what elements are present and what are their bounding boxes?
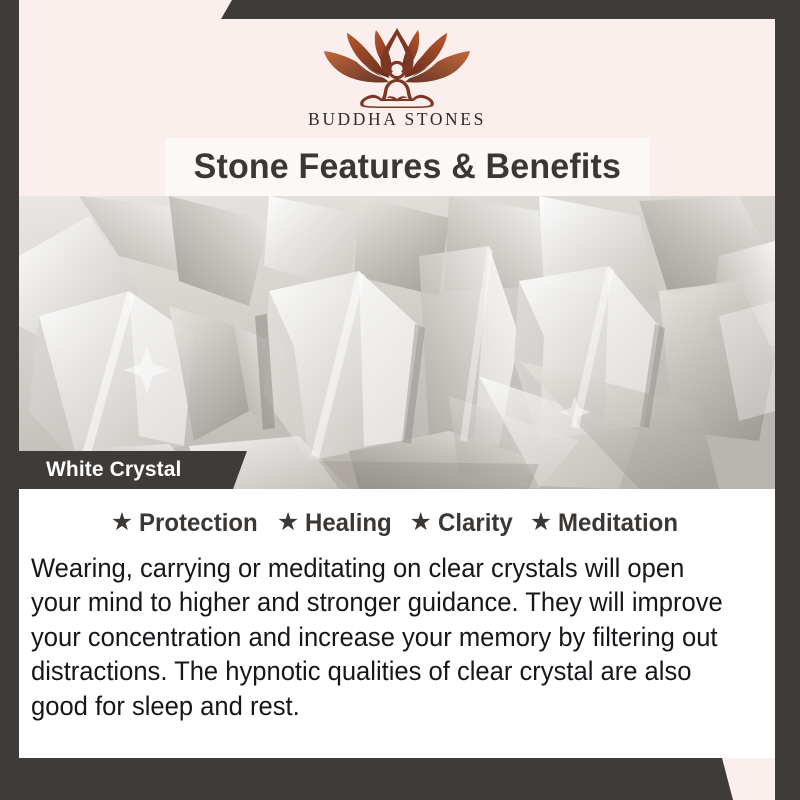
content-area: ★ Protection ★ Healing ★ Clarity ★ Medit…	[19, 489, 775, 758]
brand-header: BUDDHA STONES	[19, 19, 775, 139]
stone-description: Wearing, carrying or meditating on clear…	[31, 551, 740, 723]
frame-left-bar	[0, 0, 19, 800]
stone-name-tag: White Crystal	[19, 451, 247, 489]
frame-bottom-bar	[0, 758, 800, 800]
star-icon: ★	[530, 510, 552, 535]
star-icon: ★	[410, 510, 432, 535]
benefits-list: ★ Protection ★ Healing ★ Clarity ★ Medit…	[19, 509, 775, 538]
benefit-item-meditation: ★ Meditation	[530, 509, 683, 538]
benefit-item-healing: ★ Healing	[277, 509, 396, 538]
title-banner: Stone Features & Benefits	[165, 138, 649, 196]
page-title: Stone Features & Benefits	[193, 147, 620, 187]
lotus-meditation-figure-icon	[311, 26, 483, 108]
benefit-label: Healing	[305, 509, 392, 538]
benefit-item-protection: ★ Protection	[111, 509, 263, 538]
benefit-item-clarity: ★ Clarity	[410, 509, 516, 538]
crystal-illustration	[19, 196, 775, 489]
benefit-label: Protection	[139, 509, 258, 538]
star-icon: ★	[277, 510, 299, 535]
stone-name-label: White Crystal	[19, 458, 182, 482]
benefit-label: Meditation	[558, 509, 678, 538]
product-infographic: BUDDHA STONES Stone Features & Benefits	[0, 0, 800, 800]
page-body: BUDDHA STONES Stone Features & Benefits	[19, 19, 775, 758]
frame-right-bar	[775, 0, 800, 800]
white-crystal-cluster-photo: White Crystal	[19, 196, 775, 489]
benefit-label: Clarity	[438, 509, 513, 538]
brand-wordmark: BUDDHA STONES	[308, 109, 486, 130]
frame-top-bar	[0, 0, 800, 19]
star-icon: ★	[111, 510, 133, 535]
